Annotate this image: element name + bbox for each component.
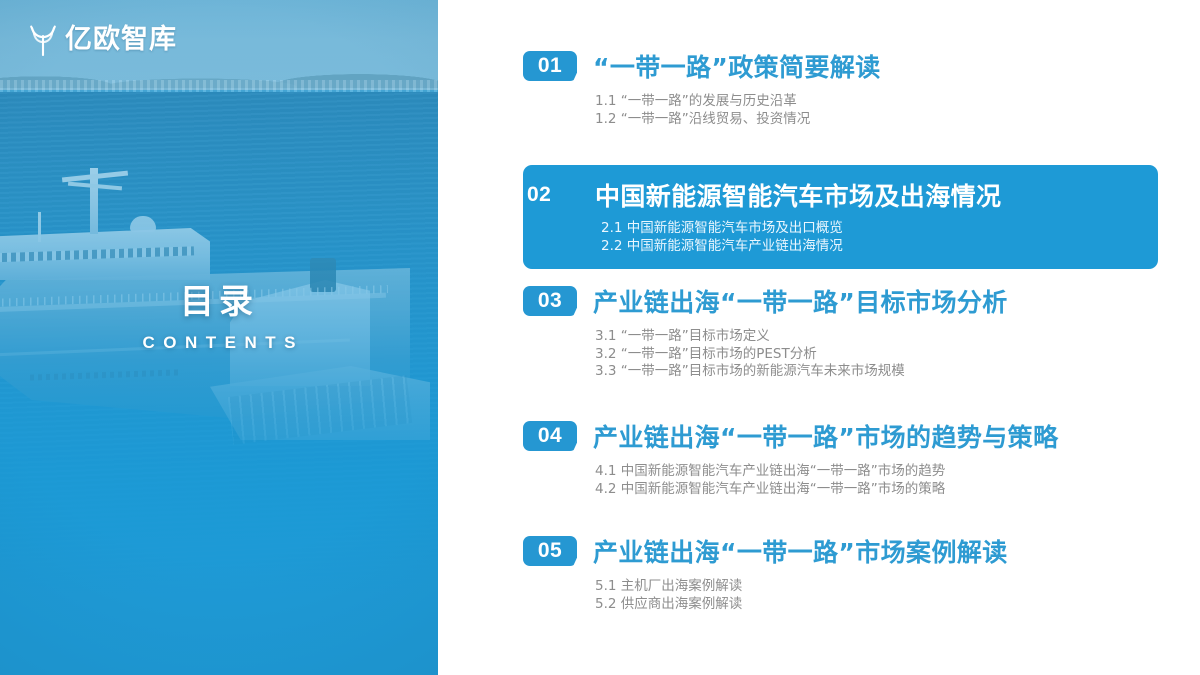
section-sub-list: 2.1 中国新能源智能汽车市场及出口概览2.2 中国新能源智能汽车产业链出海情况 xyxy=(601,220,1158,255)
section-title: 中国新能源智能汽车市场及出海情况 xyxy=(595,177,1001,213)
section-sub-list: 5.1 主机厂出海案例解读5.2 供应商出海案例解读 xyxy=(595,578,1163,613)
toc-section-02[interactable]: 02中国新能源智能汽车市场及出海情况2.1 中国新能源智能汽车市场及出口概览2.… xyxy=(523,165,1158,269)
toc-section-header: 05产业链出海“一带一路”市场案例解读 xyxy=(523,533,1163,569)
section-number-badge: 02 xyxy=(523,180,585,210)
section-sub-item[interactable]: 5.1 主机厂出海案例解读 xyxy=(595,578,1163,596)
section-title: 产业链出海“一带一路”市场案例解读 xyxy=(593,533,1008,569)
toc-section-header: 03产业链出海“一带一路”目标市场分析 xyxy=(523,283,1163,319)
section-number-badge: 04 xyxy=(523,421,577,451)
hero-panel: 亿欧智库 目录 CONTENTS xyxy=(0,0,438,675)
slide-root: 亿欧智库 目录 CONTENTS 01“一带一路”政策简要解读1.1 “一带一路… xyxy=(0,0,1200,675)
toc-section-05[interactable]: 05产业链出海“一带一路”市场案例解读5.1 主机厂出海案例解读5.2 供应商出… xyxy=(523,533,1163,613)
yiou-tree-logo-icon xyxy=(28,22,58,56)
hero-photo xyxy=(0,0,438,675)
toc-panel: 01“一带一路”政策简要解读1.1 “一带一路”的发展与历史沿革1.2 “一带一… xyxy=(438,0,1200,675)
section-number-badge: 03 xyxy=(523,286,577,316)
section-sub-list: 1.1 “一带一路”的发展与历史沿革1.2 “一带一路”沿线贸易、投资情况 xyxy=(595,93,1163,128)
brand-name: 亿欧智库 xyxy=(65,26,177,53)
section-sub-list: 3.1 “一带一路”目标市场定义3.2 “一带一路”目标市场的PEST分析3.3… xyxy=(595,328,1163,381)
section-title: 产业链出海“一带一路”目标市场分析 xyxy=(593,283,1008,319)
section-title: “一带一路”政策简要解读 xyxy=(593,48,881,84)
vignette-overlay xyxy=(0,0,438,675)
section-sub-item[interactable]: 1.1 “一带一路”的发展与历史沿革 xyxy=(595,93,1163,111)
section-sub-item[interactable]: 1.2 “一带一路”沿线贸易、投资情况 xyxy=(595,111,1163,129)
section-sub-item[interactable]: 4.2 中国新能源智能汽车产业链出海“一带一路”市场的策略 xyxy=(595,481,1163,499)
section-sub-item[interactable]: 2.2 中国新能源智能汽车产业链出海情况 xyxy=(601,238,1158,256)
section-sub-item[interactable]: 3.3 “一带一路”目标市场的新能源汽车未来市场规模 xyxy=(595,363,1163,381)
section-sub-item[interactable]: 2.1 中国新能源智能汽车市场及出口概览 xyxy=(601,220,1158,238)
toc-section-03[interactable]: 03产业链出海“一带一路”目标市场分析3.1 “一带一路”目标市场定义3.2 “… xyxy=(523,283,1163,381)
toc-section-header: 02中国新能源智能汽车市场及出海情况 xyxy=(523,177,1158,213)
toc-section-header: 04产业链出海“一带一路”市场的趋势与策略 xyxy=(523,418,1163,454)
brand-logo: 亿欧智库 xyxy=(28,22,177,56)
section-number-badge: 05 xyxy=(523,536,577,566)
section-number-badge: 01 xyxy=(523,51,577,81)
toc-section-header: 01“一带一路”政策简要解读 xyxy=(523,48,1163,84)
section-sub-item[interactable]: 3.1 “一带一路”目标市场定义 xyxy=(595,328,1163,346)
toc-section-01[interactable]: 01“一带一路”政策简要解读1.1 “一带一路”的发展与历史沿革1.2 “一带一… xyxy=(523,48,1163,128)
section-sub-list: 4.1 中国新能源智能汽车产业链出海“一带一路”市场的趋势4.2 中国新能源智能… xyxy=(595,463,1163,498)
section-sub-item[interactable]: 3.2 “一带一路”目标市场的PEST分析 xyxy=(595,346,1163,364)
section-sub-item[interactable]: 4.1 中国新能源智能汽车产业链出海“一带一路”市场的趋势 xyxy=(595,463,1163,481)
section-sub-item[interactable]: 5.2 供应商出海案例解读 xyxy=(595,596,1163,614)
toc-section-04[interactable]: 04产业链出海“一带一路”市场的趋势与策略4.1 中国新能源智能汽车产业链出海“… xyxy=(523,418,1163,498)
section-title: 产业链出海“一带一路”市场的趋势与策略 xyxy=(593,418,1058,454)
